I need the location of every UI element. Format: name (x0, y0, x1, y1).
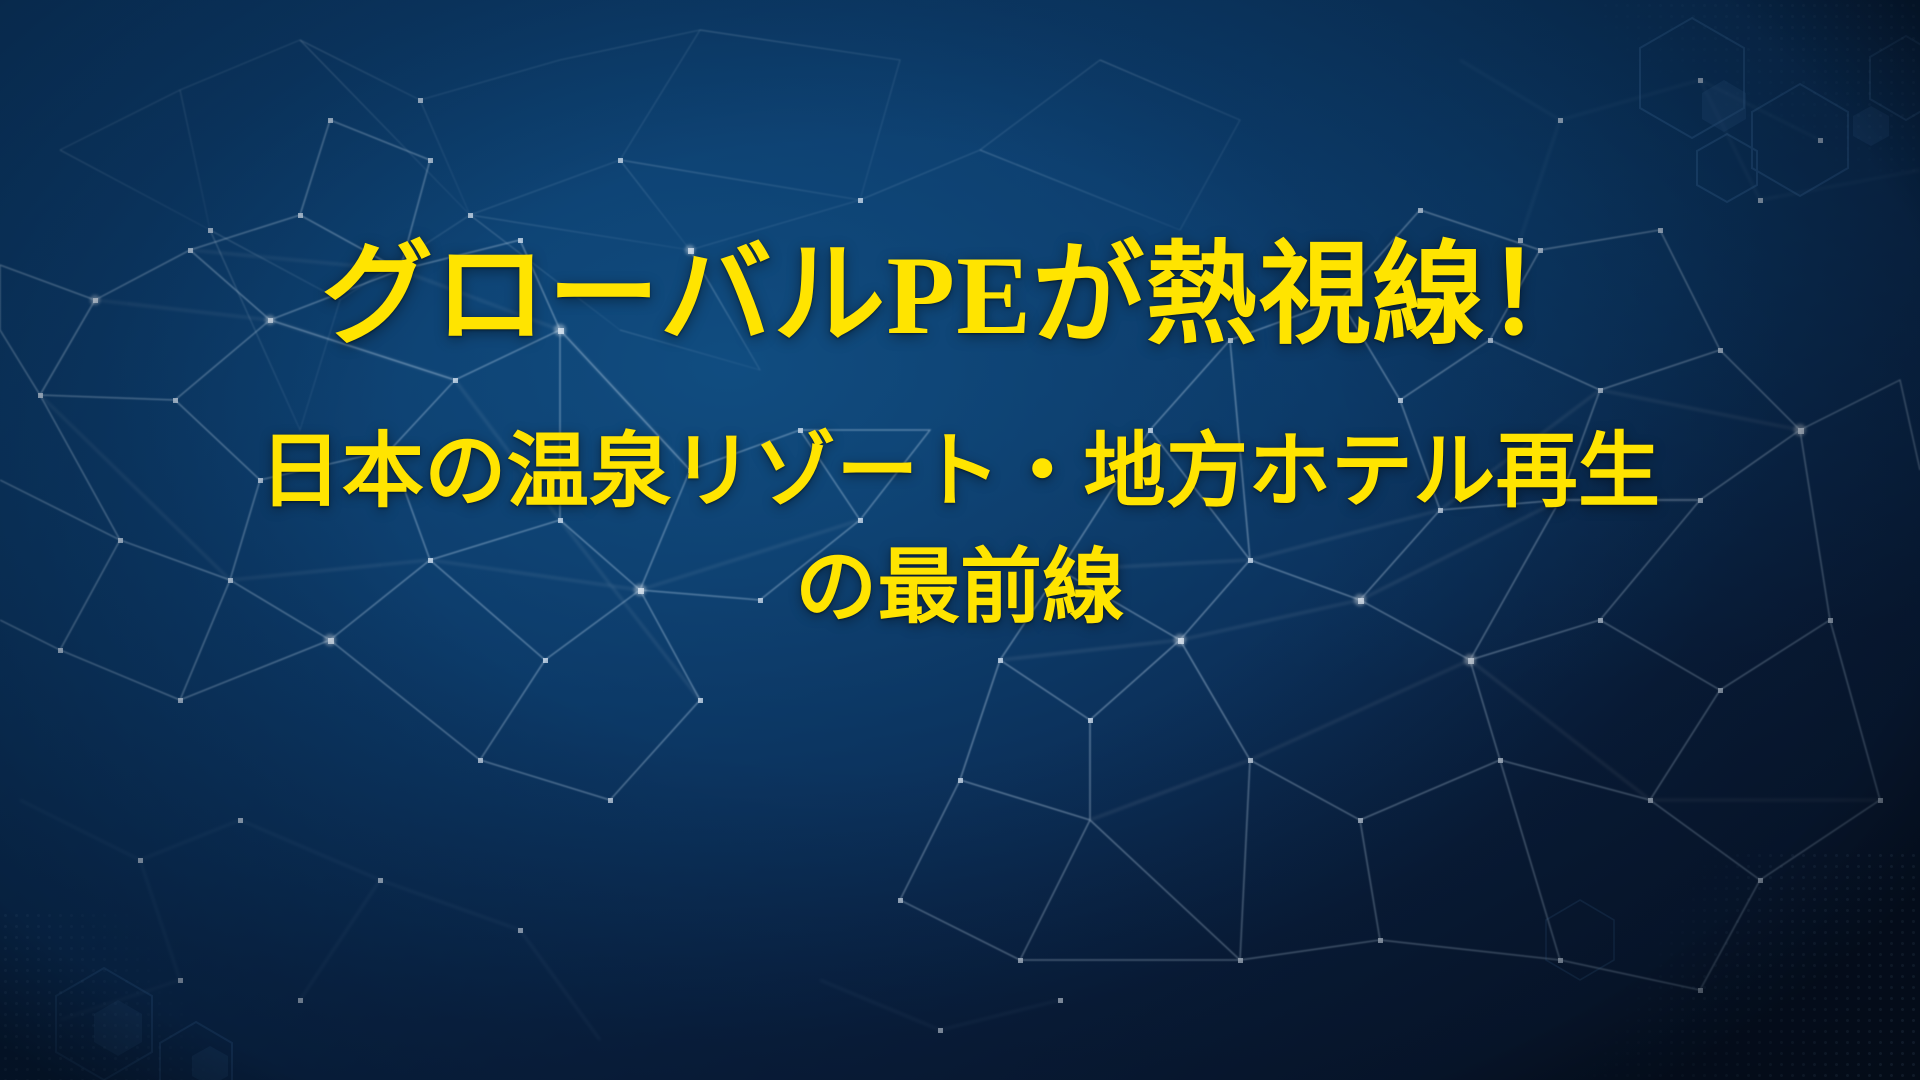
halftone-dot-grid-bottom-right (1490, 850, 1920, 1080)
halftone-dot-grid-bottom-left (0, 910, 300, 1080)
title-slide: グローバルPEが熱視線！ 日本の温泉リゾート・地方ホテル再生の最前線 (0, 0, 1920, 1080)
page-title: グローバルPEが熱視線！ (0, 232, 1920, 362)
title-block: グローバルPEが熱視線！ 日本の温泉リゾート・地方ホテル再生の最前線 (0, 232, 1920, 647)
halftone-dot-grid-top-right (1600, 0, 1920, 180)
page-subtitle: 日本の温泉リゾート・地方ホテル再生の最前線 (230, 414, 1690, 647)
